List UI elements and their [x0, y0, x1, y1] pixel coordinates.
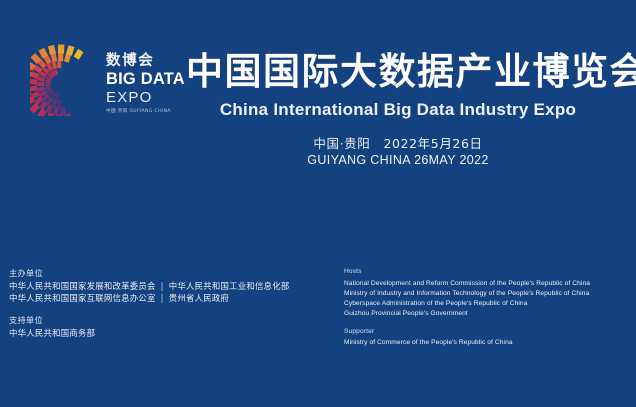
spiral-tile: [74, 49, 84, 60]
spiral-tile: [66, 45, 75, 55]
hosts-label-cn: 主办单位: [9, 267, 339, 279]
expo-banner: 数博会 BIG DATA EXPO 中国·贵阳 GUIYANG·CHINA 中国…: [0, 0, 636, 407]
spiral-tile: [57, 100, 61, 107]
spiral-tile: [48, 45, 56, 55]
logo-wordmark-location: 中国·贵阳 GUIYANG·CHINA: [106, 108, 186, 115]
credits-spacer: [9, 305, 339, 314]
big-data-expo-spiral-logo-icon: [30, 44, 102, 116]
spiral-tile: [58, 44, 64, 53]
spiral-tile: [45, 83, 51, 86]
credit-line: 中华人民共和国商务部: [9, 327, 339, 339]
hosts-list-en: National Development and Reform Commissi…: [344, 279, 632, 319]
credit-separator: |: [156, 292, 169, 304]
logo-lockup: 数博会 BIG DATA EXPO 中国·贵阳 GUIYANG·CHINA: [30, 44, 182, 122]
hosts-list-cn: 中华人民共和国国家发展和改革委员会|中华人民共和国工业和信息化部中华人民共和国国…: [9, 280, 339, 305]
spiral-tile: [37, 82, 44, 86]
credits-english: Hosts National Development and Reform Co…: [344, 267, 632, 348]
supporter-list-en: Ministry of Commerce of the People's Rep…: [344, 338, 632, 348]
credit-separator: |: [156, 280, 169, 292]
page-title-en: China International Big Data Industry Ex…: [186, 99, 610, 121]
spiral-tile: [30, 79, 37, 85]
event-date-en: GUIYANG CHINA 26MAY 2022: [186, 152, 610, 168]
credits-spacer-en: [344, 319, 632, 327]
spiral-tile: [58, 53, 63, 61]
credits-chinese: 主办单位 中华人民共和国国家发展和改革委员会|中华人民共和国工业和信息化部中华人…: [9, 267, 339, 339]
spiral-tile: [56, 114, 62, 116]
spiral-tile: [57, 61, 61, 68]
hosts-label-en: Hosts: [344, 267, 632, 277]
logo-wordmark-cn: 数博会: [106, 53, 186, 69]
credit-org-name: 中华人民共和国商务部: [9, 328, 95, 338]
spiral-tile: [60, 107, 66, 115]
spiral-tile: [30, 85, 38, 91]
supporter-list-cn: 中华人民共和国商务部: [9, 327, 339, 339]
supporter-label-cn: 支持单位: [9, 314, 339, 326]
page-title-cn: 中国国际大数据产业博览会: [186, 50, 610, 93]
credit-org-name: 贵州省人民政府: [169, 293, 229, 303]
event-date-cn: 中国·贵阳 2022年5月26日: [186, 135, 610, 152]
credit-org-name: 中华人民共和国国家发展和改革委员会: [9, 281, 156, 291]
credit-org-name: 中华人民共和国国家互联网信息办公室: [9, 293, 156, 303]
spiral-tile: [64, 113, 72, 116]
event-date-block: 中国·贵阳 2022年5月26日 GUIYANG CHINA 26MAY 202…: [186, 135, 610, 168]
headline-block: 中国国际大数据产业博览会 China International Big Dat…: [186, 50, 610, 168]
credit-org-name: Ministry of Industry and Information Tec…: [344, 289, 632, 299]
logo-wordmark-bigdata: BIG DATA: [106, 70, 186, 89]
supporter-label-en: Supporter: [344, 327, 632, 337]
credit-org-name: Guizhou Provincial People's Government: [344, 309, 632, 319]
credit-org-name: Cyberspace Administration of the People'…: [344, 299, 632, 309]
spiral-tile: [30, 103, 40, 114]
spiral-tile: [37, 108, 47, 116]
credit-org-name: National Development and Reform Commissi…: [344, 279, 632, 289]
spiral-tile: [53, 106, 59, 115]
logo-wordmark: 数博会 BIG DATA EXPO 中国·贵阳 GUIYANG·CHINA: [106, 53, 186, 115]
credit-line: 中华人民共和国国家发展和改革委员会|中华人民共和国工业和信息化部: [9, 280, 339, 292]
credit-org-name: Ministry of Commerce of the People's Rep…: [344, 338, 632, 348]
credit-line: 中华人民共和国国家互联网信息办公室|贵州省人民政府: [9, 292, 339, 304]
logo-wordmark-expo: EXPO: [106, 89, 186, 106]
credit-org-name: 中华人民共和国工业和信息化部: [169, 281, 290, 291]
